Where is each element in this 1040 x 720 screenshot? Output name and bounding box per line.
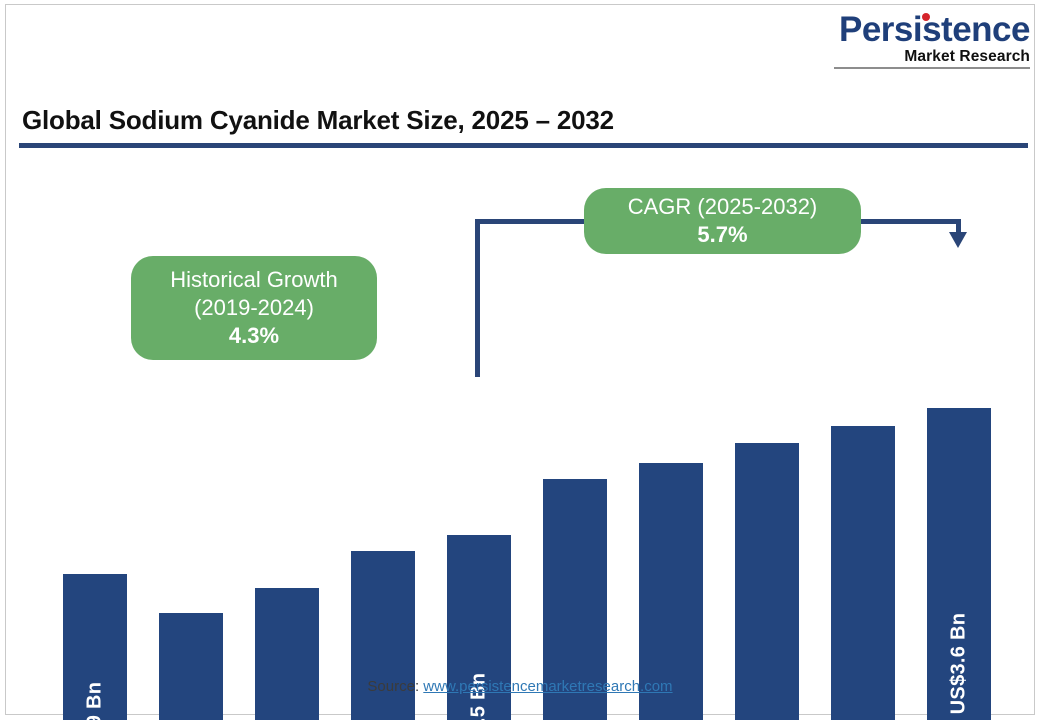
cagr-connector-arrow-icon	[949, 232, 967, 248]
source-note: Source: www.persistencemarketresearch.co…	[0, 678, 1040, 695]
cagr-connector-left-horizontal	[475, 219, 590, 224]
cagr-connector-right-horizontal	[855, 219, 961, 224]
logo-tagline-text: Market Research	[839, 49, 1030, 65]
page-title: Global Sodium Cyanide Market Size, 2025 …	[22, 105, 614, 136]
source-prefix: Source:	[367, 678, 423, 695]
cagr-connector-left-vertical	[475, 219, 480, 377]
historical-growth-callout: Historical Growth (2019-2024) 4.3%	[131, 256, 377, 360]
cagr-callout: CAGR (2025-2032) 5.7%	[584, 188, 861, 254]
chart-page: Persistence Market Research Global Sodiu…	[0, 0, 1040, 720]
cagr-line1: CAGR (2025-2032)	[628, 193, 818, 221]
logo-brand-text: Persistence	[839, 12, 1030, 47]
logo-accent-dot-icon	[922, 13, 930, 21]
bar-2020[interactable]	[159, 613, 223, 720]
title-underline	[19, 143, 1028, 148]
historical-growth-line2: (2019-2024)	[194, 294, 314, 322]
company-logo: Persistence Market Research	[839, 12, 1030, 65]
historical-growth-value: 4.3%	[229, 322, 279, 350]
bar-2031[interactable]	[831, 426, 895, 720]
bar-label-2032: US$3.6 Bn	[948, 613, 971, 715]
bar-2032[interactable]: US$3.6 Bn	[927, 408, 991, 720]
bar-2021[interactable]	[255, 588, 319, 720]
historical-growth-line1: Historical Growth	[170, 266, 337, 294]
logo-divider	[834, 67, 1030, 69]
bar-chart: US$ 1.9 Bn US$2.5 Bn US$3.6 Bn 2019 2020…	[0, 160, 1040, 630]
source-link[interactable]: www.persistencemarketresearch.com	[423, 678, 672, 695]
cagr-value: 5.7%	[697, 221, 747, 249]
bar-2019[interactable]: US$ 1.9 Bn	[63, 574, 127, 720]
